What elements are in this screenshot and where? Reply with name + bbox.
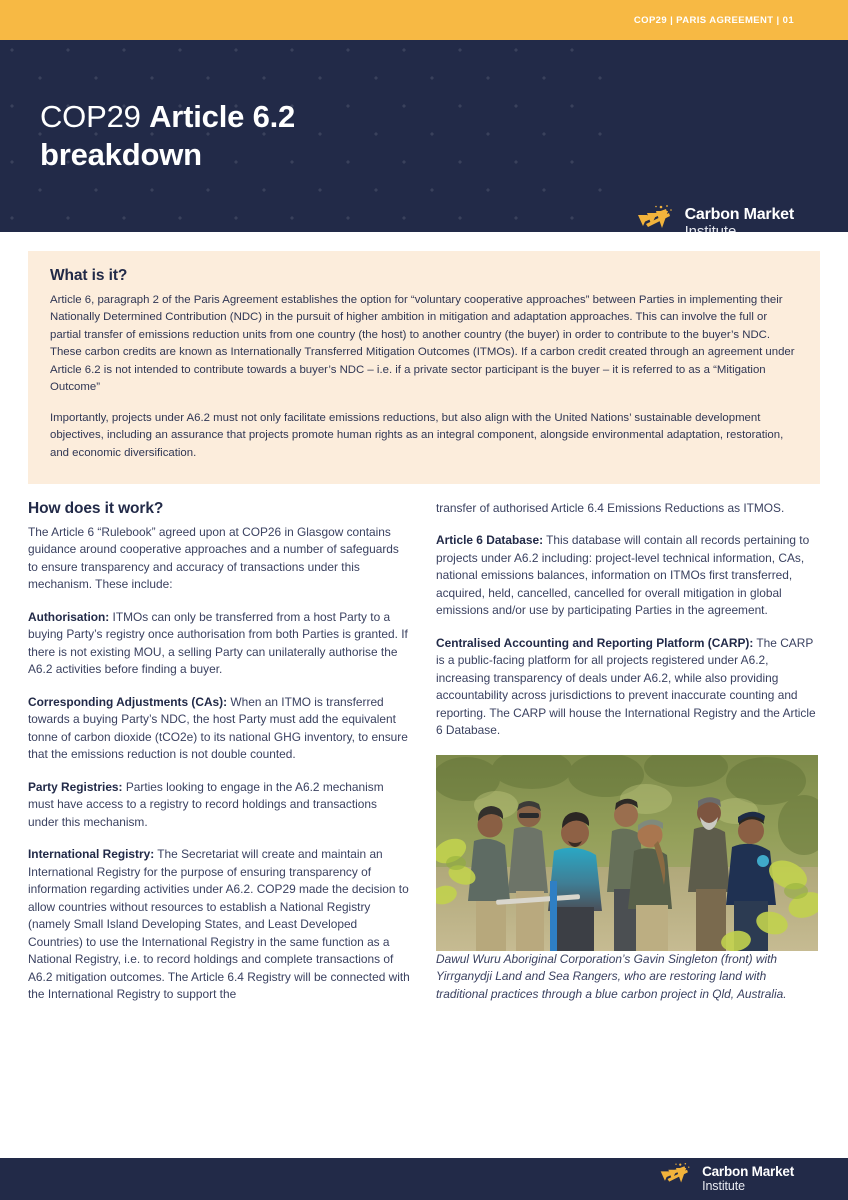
right-continuation-paragraph: transfer of authorised Article 6.4 Emiss…: [436, 500, 818, 518]
item-authorisation-term: Authorisation:: [28, 610, 109, 624]
page-footer: Carbon Market Institute: [0, 1158, 848, 1200]
item-carp-term: Centralised Accounting and Reporting Pla…: [436, 636, 753, 650]
brand-logo: Carbon Market Institute: [636, 204, 794, 232]
footer-brand-name-line1: Carbon Market: [702, 1165, 794, 1179]
brand-name-line2: Institute: [685, 224, 794, 232]
top-bar: COP29 | PARIS AGREEMENT | 01: [0, 0, 848, 40]
rangers-group-photo: [436, 755, 818, 951]
left-column: How does it work? The Article 6 “Ruleboo…: [28, 500, 410, 1004]
footer-brand-logo-text: Carbon Market Institute: [702, 1165, 794, 1192]
item-party-registries-term: Party Registries:: [28, 780, 123, 794]
carbon-market-institute-logo-icon: [636, 204, 676, 232]
item-article-6-database: Article 6 Database: This database will c…: [436, 532, 818, 620]
hero-banner: COP29 Article 6.2 breakdown Carbon Ma: [0, 40, 848, 232]
what-is-it-callout: What is it? Article 6, paragraph 2 of th…: [28, 251, 820, 484]
callout-heading: What is it?: [50, 267, 798, 285]
right-column: transfer of authorised Article 6.4 Emiss…: [436, 500, 818, 1004]
item-authorisation: Authorisation: ITMOs can only be transfe…: [28, 609, 410, 679]
carbon-market-institute-logo-icon: [659, 1162, 693, 1196]
footer-brand-name-line2: Institute: [702, 1180, 794, 1193]
item-corresponding-adjustments: Corresponding Adjustments (CAs): When an…: [28, 694, 410, 764]
callout-paragraph-1: Article 6, paragraph 2 of the Paris Agre…: [50, 292, 798, 397]
item-carp: Centralised Accounting and Reporting Pla…: [436, 635, 818, 740]
page-title-main: Article 6.2: [149, 99, 295, 134]
page-title: COP29 Article 6.2 breakdown: [40, 98, 295, 174]
page-title-prefix: COP29: [40, 99, 149, 134]
photo-block: Dawul Wuru Aboriginal Corporation’s Gavi…: [436, 755, 818, 1004]
brand-name-line1: Carbon Market: [685, 207, 794, 224]
item-party-registries: Party Registries: Parties looking to eng…: [28, 779, 410, 832]
top-bar-label: COP29 | PARIS AGREEMENT | 01: [634, 15, 794, 26]
item-international-registry-text: The Secretariat will create and maintain…: [28, 847, 410, 1001]
item-international-registry: International Registry: The Secretariat …: [28, 846, 410, 1004]
callout-paragraph-2: Importantly, projects under A6.2 must no…: [50, 410, 798, 462]
brand-logo-text: Carbon Market Institute: [685, 207, 794, 232]
body-columns: How does it work? The Article 6 “Ruleboo…: [0, 484, 848, 1004]
item-international-registry-term: International Registry:: [28, 847, 154, 861]
page-title-second-line: breakdown: [40, 137, 202, 172]
photo-caption: Dawul Wuru Aboriginal Corporation’s Gavi…: [436, 951, 818, 1004]
item-corresponding-adjustments-term: Corresponding Adjustments (CAs):: [28, 695, 227, 709]
item-carp-text: The CARP is a public-facing platform for…: [436, 636, 816, 738]
footer-brand-logo: Carbon Market Institute: [659, 1162, 794, 1196]
left-intro-paragraph: The Article 6 “Rulebook” agreed upon at …: [28, 524, 410, 594]
how-does-it-work-heading: How does it work?: [28, 500, 410, 518]
item-article-6-database-term: Article 6 Database:: [436, 533, 543, 547]
